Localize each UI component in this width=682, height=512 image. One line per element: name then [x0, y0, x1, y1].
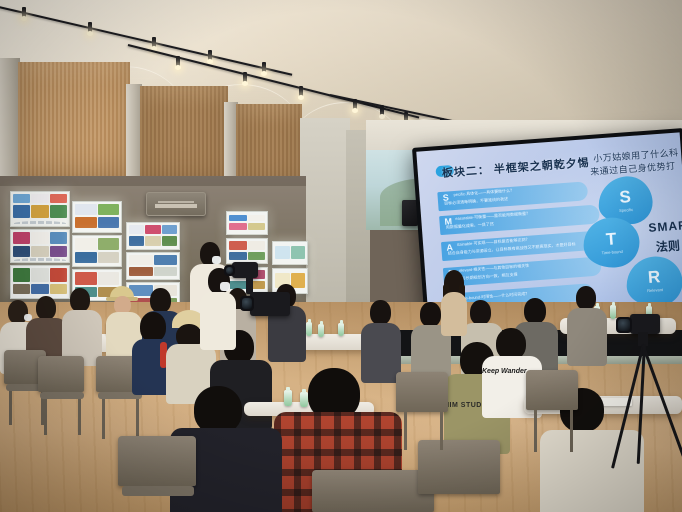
head — [194, 386, 242, 434]
video-camera — [250, 292, 290, 316]
head — [36, 296, 56, 320]
track-light — [262, 62, 266, 73]
chair-leg — [102, 399, 105, 439]
water-bottle — [610, 305, 616, 319]
photo-scene: 板块二： 半框架之朝乾夕惕 小万姑娘用了什么科 来通过自己身优势打 S peci… — [0, 0, 682, 512]
track-light — [208, 50, 212, 61]
photo-panel — [10, 229, 70, 263]
track-light — [176, 56, 180, 67]
presenter-torso — [441, 292, 467, 336]
chair-back — [118, 436, 196, 486]
chair-back — [526, 370, 578, 410]
camera-lens-icon — [616, 317, 632, 333]
torso — [540, 430, 644, 512]
head — [470, 300, 491, 325]
video-camera — [232, 262, 258, 278]
chair-back — [418, 440, 500, 494]
chair-leg — [534, 410, 537, 452]
torso — [361, 323, 401, 383]
head — [70, 288, 90, 312]
torso — [567, 308, 607, 366]
chair-leg — [44, 399, 47, 435]
camera-lens-icon — [240, 296, 254, 311]
photo-panel — [126, 222, 180, 250]
photo-panel — [72, 201, 122, 233]
photo-panel — [272, 241, 308, 265]
track-light — [88, 22, 92, 33]
chair-back — [38, 356, 84, 392]
sign-line-top — [158, 201, 194, 203]
track-light — [299, 86, 303, 97]
photo-panel — [126, 252, 180, 280]
wall-pillar — [0, 58, 20, 178]
face-mask — [220, 282, 230, 291]
dslr-camera — [630, 314, 660, 334]
head — [370, 300, 391, 325]
torso — [200, 292, 236, 350]
photo-wall-shadow — [0, 176, 306, 186]
photo-panel — [226, 211, 268, 235]
photo-panel — [72, 235, 122, 267]
wall-partition — [300, 118, 350, 328]
chair-leg — [570, 410, 573, 452]
photo-panel — [10, 191, 70, 227]
photo-panel — [226, 238, 268, 264]
head — [524, 298, 546, 324]
water-bottle — [306, 322, 312, 336]
water-bottle — [338, 323, 344, 336]
chair-back — [396, 372, 448, 412]
track-light — [152, 37, 156, 48]
chair-leg — [440, 412, 443, 450]
track-light — [22, 7, 26, 18]
chair-leg — [404, 412, 407, 450]
camera-lens-icon — [224, 265, 235, 276]
photo-panel — [10, 265, 70, 299]
chair-back — [312, 470, 434, 512]
track-light — [380, 105, 384, 116]
water-bottle — [284, 390, 292, 406]
chair-leg — [78, 399, 81, 435]
chair-leg — [9, 391, 12, 425]
head — [576, 286, 596, 310]
wood-slat-wall — [18, 62, 130, 192]
face-mask — [212, 256, 221, 264]
head — [420, 302, 441, 327]
chair-seat — [122, 486, 194, 496]
head — [140, 312, 166, 342]
chair-leg — [136, 399, 139, 439]
venue-sign — [146, 192, 206, 216]
smart-label-line2: 法则 — [655, 237, 680, 256]
water-bottle — [318, 324, 324, 337]
sign-line-main — [155, 204, 198, 208]
head — [150, 288, 171, 313]
water-bottle — [300, 392, 308, 407]
smart-label-line1: SMART — [648, 217, 682, 234]
chair-seat — [40, 392, 84, 399]
track-light — [243, 72, 247, 83]
